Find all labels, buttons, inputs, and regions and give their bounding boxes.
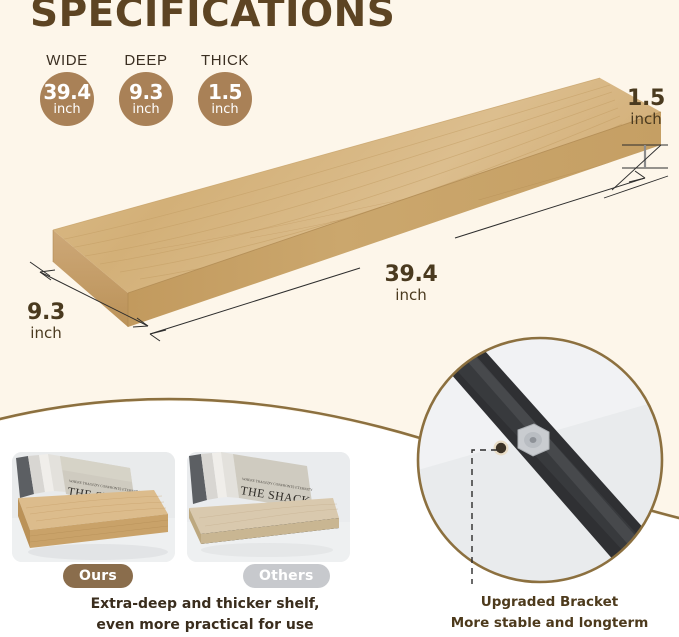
badge-others: Others <box>243 564 330 588</box>
shelf-top-grain <box>53 78 661 293</box>
specification-infographic: SPECIFICATIONS WIDE 39.4 inch DEEP 9.3 i… <box>0 0 679 637</box>
dimension-value-thickness: 1.5 <box>627 86 665 111</box>
dimension-value-depth: 9.3 <box>27 300 65 325</box>
comparison-photo-others: WHERE TRAGEDY CONFRONTS ETERNITY THE SHA… <box>187 452 350 562</box>
bracket-caption-line2: More stable and longterm <box>420 613 679 634</box>
photo-others-graphic: WHERE TRAGEDY CONFRONTS ETERNITY THE SHA… <box>187 452 350 562</box>
comparison-caption-line1: Extra-deep and thicker shelf, <box>0 594 410 615</box>
shelf-body <box>53 78 661 327</box>
dimension-leader-thick <box>604 176 668 198</box>
bracket-caption: Upgraded Bracket More stable and longter… <box>420 592 679 634</box>
dimension-label-depth: 9.3 inch <box>6 300 86 342</box>
dimension-ext-depth <box>30 262 50 276</box>
dimension-arrow-width-left <box>150 330 166 341</box>
bracket-marker-dot <box>494 441 509 456</box>
comparison-caption-line2: even more practical for use <box>0 615 410 636</box>
bracket-caption-line1: Upgraded Bracket <box>420 592 679 613</box>
dimension-unit-depth: inch <box>6 324 86 342</box>
comparison-caption: Extra-deep and thicker shelf, even more … <box>0 594 410 636</box>
dimension-value-width: 39.4 <box>384 262 437 287</box>
dimension-label-thickness: 1.5 inch <box>618 86 674 128</box>
dimension-label-width: 39.4 inch <box>366 262 456 304</box>
photo-ours-graphic: WHERE TRAGEDY CONFRONTS ETERNITY THE SHA… <box>12 452 175 562</box>
comparison-photo-ours: WHERE TRAGEDY CONFRONTS ETERNITY THE SHA… <box>12 452 175 562</box>
dimension-unit-thickness: inch <box>618 110 674 128</box>
badge-ours: Ours <box>63 564 133 588</box>
dimension-unit-width: inch <box>366 286 456 304</box>
